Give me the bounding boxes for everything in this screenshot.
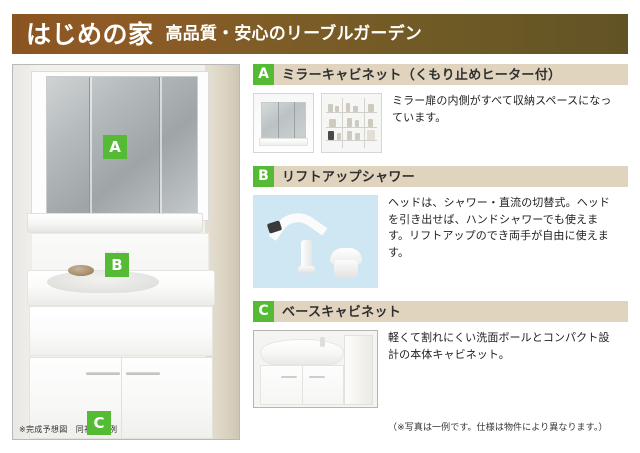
section-b-badge: B <box>253 166 274 187</box>
section-b-header: B リフトアップシャワー <box>253 166 628 187</box>
section-c-header: C ベースキャビネット <box>253 301 628 322</box>
badge-b-lift-up-shower: B <box>105 253 129 277</box>
page-title: はじめの家 <box>26 22 154 47</box>
section-c-badge: C <box>253 301 274 322</box>
section-c-body: 軽くて割れにくい洗面ボールとコンパクト設計の本体キャビネット。 <box>253 330 628 408</box>
section-b-title: リフトアップシャワー <box>274 166 415 187</box>
page-header-bar: はじめの家 高品質・安心のリーブルガーデン <box>12 14 628 54</box>
vanity-drawer-front <box>29 306 213 356</box>
feature-section-a: A ミラーキャビネット（くもり止めヒーター付） <box>253 64 628 153</box>
badge-a-mirror-cabinet: A <box>103 135 127 159</box>
footer-note: （※写真は一例です。仕様は物件により異なります。） <box>388 420 628 433</box>
feature-sections: A ミラーキャビネット（くもり止めヒーター付） <box>253 64 628 433</box>
page-subtitle: 高品質・安心のリーブルガーデン <box>166 26 422 43</box>
section-a-header: A ミラーキャビネット（くもり止めヒーター付） <box>253 64 628 85</box>
mirror-cabinet-open-photo <box>321 93 382 153</box>
section-a-badge: A <box>253 64 274 85</box>
base-cabinet-photo <box>253 330 378 408</box>
section-a-thumbnails <box>253 93 382 153</box>
main-vanity-photo: ※完成予想図 同社施行例 <box>12 64 240 440</box>
mirror-cabinet-closed-photo <box>253 93 314 153</box>
badge-c-base-cabinet: C <box>87 411 111 435</box>
soap-dish <box>68 265 94 276</box>
feature-section-c: C ベースキャビネット 軽くて割れにくい洗面ボールとコンパクト設計の本体キャビネ… <box>253 301 628 433</box>
mirror-cabinet-shelf <box>27 213 203 233</box>
feature-section-b: B リフトアップシャワー ヘッドは、シャワー・直流の切替式。ヘッドを引き出せば、… <box>253 166 628 288</box>
lift-up-shower-faucet-photo <box>253 195 378 288</box>
section-c-text: 軽くて割れにくい洗面ボールとコンパクト設計の本体キャビネット。 <box>388 330 610 363</box>
section-c-title: ベースキャビネット <box>274 301 401 322</box>
section-a-title: ミラーキャビネット（くもり止めヒーター付） <box>274 64 561 85</box>
section-a-text: ミラー扉の内側がすべて収納スペースになっています。 <box>392 93 614 126</box>
section-b-text: ヘッドは、シャワー・直流の切替式。ヘッドを引き出せば、ハンドシャワーでも使えます… <box>388 195 610 261</box>
section-b-body: ヘッドは、シャワー・直流の切替式。ヘッドを引き出せば、ハンドシャワーでも使えます… <box>253 195 628 288</box>
wash-basin <box>47 271 159 293</box>
section-a-body: ミラー扉の内側がすべて収納スペースになっています。 <box>253 93 628 153</box>
